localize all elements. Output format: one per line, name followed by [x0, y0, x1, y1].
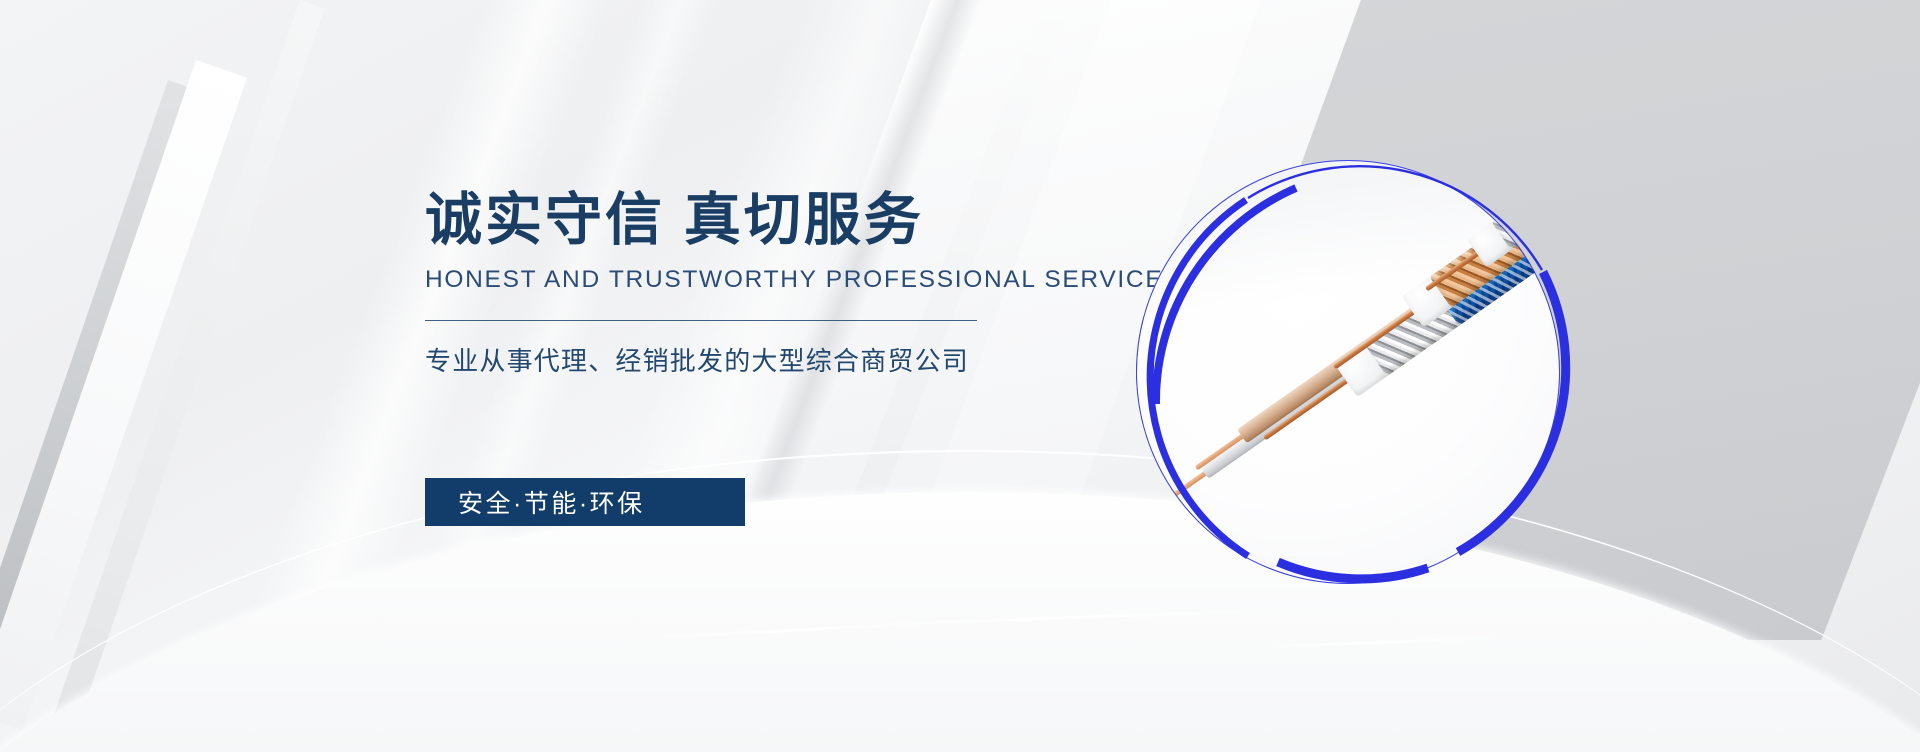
- background-floor-shade: [0, 532, 1920, 752]
- background-floor: [0, 492, 1920, 752]
- background-panel-left-band: [0, 0, 92, 636]
- product-medallion: ШШ-И: [1128, 152, 1568, 592]
- medallion-outer-ring: [1128, 152, 1568, 592]
- background-pillar-b: [0, 60, 247, 730]
- floor-streak-2: [860, 609, 1280, 627]
- background-pillar-a: [0, 80, 196, 695]
- floor-streak-1: [640, 621, 940, 640]
- hero-divider: [425, 320, 977, 321]
- feature-badge-label: 安全·节能·环保: [458, 484, 645, 520]
- banner-subheadline: HONEST AND TRUSTWORTHY PROFESSIONAL SERV…: [425, 266, 1045, 294]
- banner-headline: 诚实守信 真切服务: [425, 190, 1045, 252]
- hero-banner: 诚实守信 真切服务 HONEST AND TRUSTWORTHY PROFESS…: [0, 0, 1920, 752]
- hero-text-block: 诚实守信 真切服务 HONEST AND TRUSTWORTHY PROFESS…: [425, 190, 1045, 378]
- banner-description: 专业从事代理、经销批发的大型综合商贸公司: [425, 341, 1045, 378]
- background-pillar-c: [53, 0, 325, 727]
- floor-streak-3: [1250, 636, 1510, 648]
- feature-badge: 安全·节能·环保: [425, 478, 745, 526]
- background-floor-edge: [0, 450, 1920, 752]
- background-panel-left-light: [0, 0, 39, 671]
